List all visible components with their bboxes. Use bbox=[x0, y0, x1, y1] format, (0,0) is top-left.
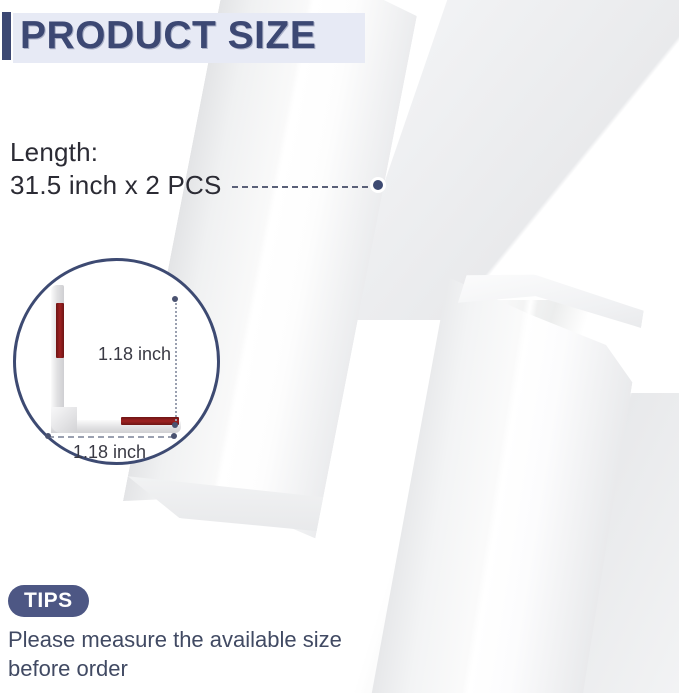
guard-face-right bbox=[213, 0, 422, 538]
guard-end-cap bbox=[122, 460, 324, 545]
height-dimension-dot-top bbox=[172, 296, 178, 302]
leader-endpoint-dot bbox=[373, 180, 383, 190]
product-size-infographic: PRODUCT SIZE Length: 31.5 inch x 2 PCS 1… bbox=[0, 0, 679, 693]
length-label: Length: bbox=[10, 136, 222, 169]
l-profile-cross-section bbox=[33, 285, 168, 445]
tips-body-text: Please measure the available size before… bbox=[8, 625, 408, 683]
height-dimension-line bbox=[175, 299, 177, 425]
tips-badge: TIPS bbox=[8, 585, 89, 617]
guard-top-cap bbox=[430, 260, 647, 354]
leader-dashed-line bbox=[232, 186, 378, 188]
length-callout: Length: 31.5 inch x 2 PCS bbox=[10, 136, 222, 202]
height-dimension-label: 1.18 inch bbox=[98, 344, 171, 365]
guard-ridge-highlight bbox=[207, 0, 326, 520]
profile-corner-bend bbox=[51, 407, 77, 433]
length-value: 31.5 inch x 2 PCS bbox=[10, 169, 222, 202]
profile-accent-strip-vertical bbox=[56, 303, 64, 358]
width-dimension-dot-left bbox=[45, 433, 51, 439]
page-title: PRODUCT SIZE bbox=[20, 12, 316, 60]
guard-ridge-highlight bbox=[453, 286, 540, 693]
height-dimension-dot-bottom bbox=[172, 422, 178, 428]
background-wedge-top bbox=[337, 0, 679, 320]
header-accent-bar bbox=[2, 12, 11, 60]
width-dimension-line bbox=[48, 436, 174, 438]
profile-accent-strip-horizontal bbox=[121, 417, 179, 425]
width-dimension-dot-right bbox=[171, 433, 177, 439]
guard-face-right bbox=[458, 290, 644, 693]
cross-section-diagram: 1.18 inch 1.18 inch bbox=[13, 258, 220, 465]
width-dimension-label: 1.18 inch bbox=[73, 442, 146, 463]
